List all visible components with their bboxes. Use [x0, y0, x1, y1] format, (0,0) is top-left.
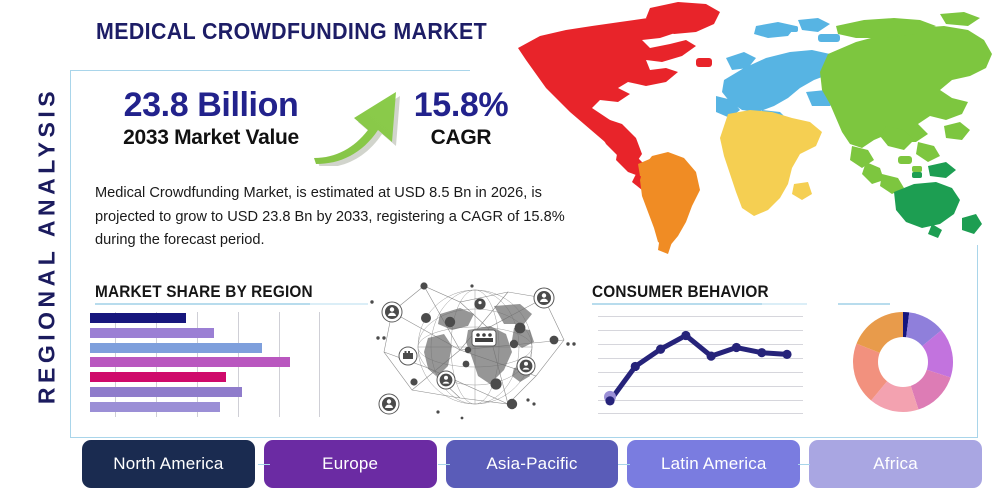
region-button-latin-america[interactable]: Latin America	[627, 440, 800, 488]
donut-rule	[838, 303, 890, 305]
bar-chart-bar	[90, 328, 214, 338]
kpi-cagr-block: 15.8% CAGR	[386, 88, 536, 150]
region-connector-2	[438, 464, 450, 465]
bar-chart-bar	[90, 387, 242, 397]
panel-title-consumer-behavior-rule-ext	[762, 303, 807, 305]
bar-chart-bar	[90, 343, 262, 353]
line-chart-marker	[732, 343, 741, 352]
line-chart-marker	[605, 396, 614, 405]
page-title: MEDICAL CROWDFUNDING MARKET	[96, 18, 487, 45]
regional-donut-chart	[852, 311, 954, 413]
kpi-cagr-value: 15.8%	[386, 88, 536, 124]
line-chart-marker	[782, 350, 791, 359]
panel-title-consumer-behavior-rule	[592, 303, 762, 305]
region-button-africa[interactable]: Africa	[809, 440, 982, 488]
line-chart-marker	[631, 362, 640, 371]
bar-chart-bar	[90, 402, 220, 412]
kpi-cagr-label: CAGR	[386, 126, 536, 150]
region-button-north-america[interactable]: North America	[82, 440, 255, 488]
region-button-asia-pacific[interactable]: Asia-Pacific	[446, 440, 619, 488]
kpi-market-value-label: 2033 Market Value	[96, 126, 326, 150]
panel-title-market-share-rule-ext	[310, 303, 368, 305]
market-share-bar-chart	[90, 312, 320, 417]
region-connector-1	[258, 464, 270, 465]
line-chart-series	[598, 312, 803, 416]
bar-chart-bar	[90, 313, 186, 323]
bar-chart-bar	[90, 372, 226, 382]
side-label-regional-analysis: REGIONAL ANALYSIS	[34, 36, 61, 456]
region-button-bar[interactable]: North AmericaEuropeAsia-PacificLatin Ame…	[82, 440, 982, 488]
panel-title-consumer-behavior: CONSUMER BEHAVIOR	[592, 283, 769, 302]
global-network-globe-icon	[368, 272, 583, 427]
infographic-root: REGIONAL ANALYSIS MEDICAL CROWDFUNDING M…	[0, 0, 1000, 500]
line-chart-marker	[707, 352, 716, 361]
bar-chart-bar	[90, 357, 290, 367]
kpi-row: 23.8 Billion 2033 Market Value 15.8% CAG…	[96, 88, 516, 168]
line-chart-marker	[656, 345, 665, 354]
kpi-market-value: 23.8 Billion	[96, 88, 326, 124]
region-button-europe[interactable]: Europe	[264, 440, 437, 488]
region-connector-4	[798, 464, 810, 465]
line-chart-marker	[681, 331, 690, 340]
kpi-market-value-block: 23.8 Billion 2033 Market Value	[96, 88, 326, 150]
bar-chart-bars	[90, 312, 320, 417]
market-description: Medical Crowdfunding Market, is estimate…	[95, 182, 585, 253]
panel-title-market-share-rule	[95, 303, 310, 305]
panel-title-market-share: MARKET SHARE BY REGION	[95, 283, 313, 302]
consumer-behavior-line-chart	[598, 312, 803, 416]
region-connector-3	[618, 464, 630, 465]
line-chart-marker	[757, 348, 766, 357]
